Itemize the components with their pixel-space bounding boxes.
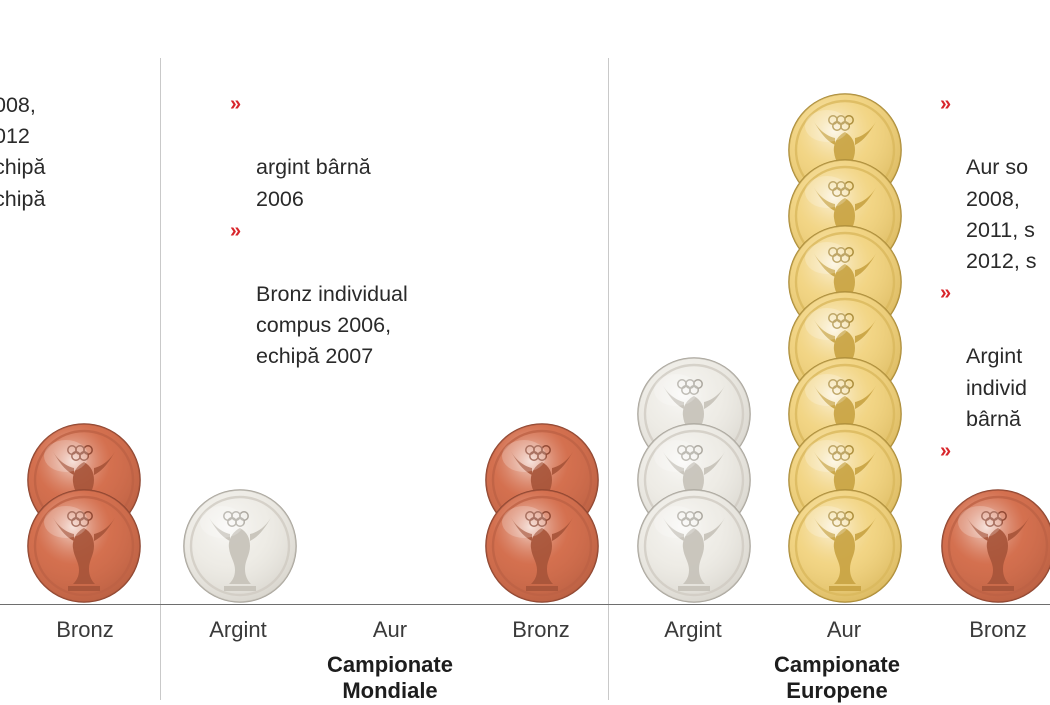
annotation-left: 008, 012 chipă chipă: [0, 90, 144, 217]
bullet-icon: »: [940, 90, 949, 119]
label-argint-mondiale: Argint: [158, 617, 318, 643]
bullet-icon: »: [230, 90, 239, 119]
group-label-europene: Campionate Europene: [687, 652, 987, 705]
annotation-item: 008, 012 chipă chipă: [0, 90, 144, 215]
label-argint-europene: Argint: [613, 617, 773, 643]
annotation-text: Bronz individual compus 2006, echipă 200…: [256, 282, 408, 368]
annotation-text: argint bârnă 2006: [256, 155, 371, 210]
annotation-item: » argint bârnă 2006: [230, 90, 530, 215]
label-aur-europene: Aur: [764, 617, 924, 643]
annotation-mondiale: » argint bârnă 2006 » Bronz individual c…: [230, 90, 530, 375]
medal-stack-aur-europene: [785, 136, 905, 606]
group-label-mondiale: Campionate Mondiale: [240, 652, 540, 705]
medal-stack-bronz-mondiale: [482, 430, 602, 606]
label-bronz-europene: Bronz: [918, 617, 1050, 643]
annotation-text: Aur so 2008, 2011, s 2012, s: [966, 155, 1037, 273]
annotation-text: Argint individ bârnă: [966, 344, 1027, 430]
bullet-icon: »: [940, 437, 949, 466]
medal-stack-argint-europene: [634, 364, 754, 606]
medal-stack-bronz-europene: [938, 496, 1050, 606]
label-bronz-mondiale: Bronz: [461, 617, 621, 643]
medal-bronze: [482, 486, 602, 606]
label-bronz-left: Bronz: [5, 617, 165, 643]
annotation-item: » Argint individ bârnă: [940, 279, 1050, 435]
medal-silver: [634, 486, 754, 606]
medal-silver: [180, 486, 300, 606]
medal-gold: [785, 486, 905, 606]
label-aur-mondiale: Aur: [310, 617, 470, 643]
annotation-item: » Bronz individual compus 2006, echipă 2…: [230, 217, 530, 373]
chart-canvas: 008, 012 chipă chipă » argint bârnă 2006…: [0, 0, 1050, 700]
medal-stack-argint-mondiale: [180, 496, 300, 606]
medal-bronze: [24, 486, 144, 606]
medal-bronze: [938, 486, 1050, 606]
medal-stack-bronz-left: [24, 430, 144, 606]
bullet-icon: »: [940, 279, 949, 308]
bullet-icon: »: [230, 217, 239, 246]
annotation-europene: » Aur so 2008, 2011, s 2012, s » Argint …: [940, 90, 1050, 532]
annotation-item: » Aur so 2008, 2011, s 2012, s: [940, 90, 1050, 277]
